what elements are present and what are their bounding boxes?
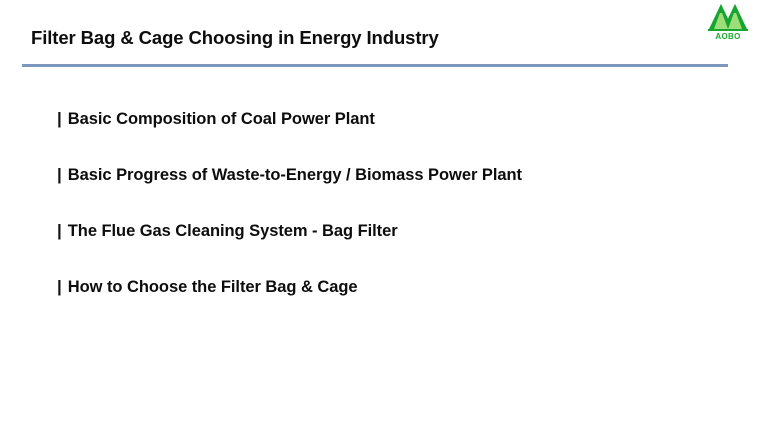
aobo-logo: AOBO: [706, 3, 750, 45]
list-item[interactable]: | The Flue Gas Cleaning System - Bag Fil…: [57, 222, 747, 278]
mountain-triangles-icon: [708, 3, 748, 31]
list-item[interactable]: | How to Choose the Filter Bag & Cage: [57, 278, 747, 334]
logo-wordmark: AOBO: [706, 32, 750, 41]
vertical-bar-icon: |: [57, 278, 62, 295]
agenda-item-label: How to Choose the Filter Bag & Cage: [68, 279, 358, 296]
list-item[interactable]: | Basic Progress of Waste-to-Energy / Bi…: [57, 166, 747, 222]
vertical-bar-icon: |: [57, 222, 62, 239]
agenda-list: | Basic Composition of Coal Power Plant …: [57, 110, 747, 334]
title-divider: [22, 64, 728, 67]
vertical-bar-icon: |: [57, 166, 62, 183]
agenda-item-label: Basic Composition of Coal Power Plant: [68, 111, 375, 128]
page-title: Filter Bag & Cage Choosing in Energy Ind…: [31, 27, 439, 49]
agenda-item-label: The Flue Gas Cleaning System - Bag Filte…: [68, 223, 398, 240]
vertical-bar-icon: |: [57, 110, 62, 127]
list-item[interactable]: | Basic Composition of Coal Power Plant: [57, 110, 747, 166]
agenda-item-label: Basic Progress of Waste-to-Energy / Biom…: [68, 167, 522, 184]
presentation-slide: AOBO Filter Bag & Cage Choosing in Energ…: [0, 0, 764, 423]
